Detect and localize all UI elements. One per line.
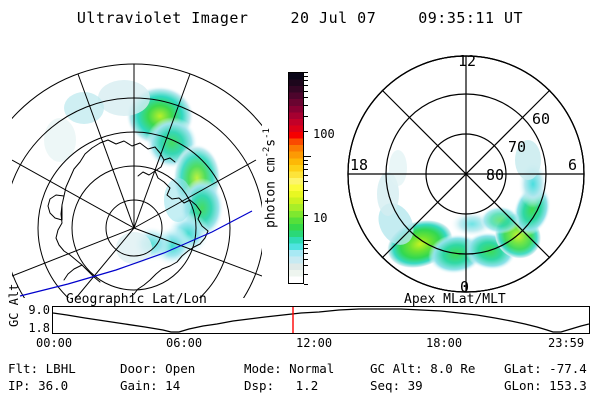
mlt-spokes bbox=[348, 56, 584, 292]
aurora-emission-apex bbox=[372, 140, 558, 278]
mlt-label-6: 6 bbox=[568, 156, 577, 174]
colorbar-title: photon cm-2s-1 bbox=[262, 72, 278, 284]
field-glat-key: GLat: bbox=[504, 361, 542, 376]
field-door-value: Open bbox=[165, 361, 195, 376]
orbit-y-axis-label: GC Alt bbox=[7, 293, 19, 327]
field-gain-key: Gain: bbox=[120, 378, 158, 393]
mlat-label-70: 70 bbox=[508, 138, 526, 156]
orbit-x-tick-4: 23:59 bbox=[548, 336, 584, 350]
field-ip-value: 36.0 bbox=[38, 378, 68, 393]
colorbar-tick-label: 100 bbox=[313, 129, 335, 139]
field-ip-key: IP: bbox=[8, 378, 31, 393]
colorbar-gradient bbox=[289, 73, 303, 283]
orbit-y-tick-low: 1.8 bbox=[28, 322, 50, 334]
geographic-plot-caption: Geographic Lat/Lon bbox=[66, 292, 207, 307]
telemetry-row-1: Flt: LBHL Door: Open Mode: Normal GC Alt… bbox=[8, 360, 598, 377]
orbit-x-tick-3: 18:00 bbox=[426, 336, 462, 350]
geographic-plot-svg bbox=[12, 48, 262, 298]
field-gcalt-key: GC Alt: bbox=[370, 361, 423, 376]
orbit-x-tick-0: 00:00 bbox=[36, 336, 72, 350]
field-glon-key: GLon: bbox=[504, 378, 542, 393]
field-glon-value: 153.3 bbox=[549, 378, 587, 393]
colorbar-scale bbox=[288, 72, 304, 284]
field-ip: IP: 36.0 bbox=[8, 378, 120, 393]
colorbar-title-main: photon cm bbox=[263, 158, 278, 228]
mlt-label-18: 18 bbox=[350, 156, 368, 174]
uvi-image-display: Ultraviolet Imager 20 Jul 07 09:35:11 UT bbox=[0, 0, 600, 400]
header-bar: Ultraviolet Imager 20 Jul 07 09:35:11 UT bbox=[0, 6, 600, 30]
orbit-altitude-plot bbox=[52, 306, 590, 334]
mlat-label-80: 80 bbox=[486, 166, 504, 184]
field-seq: Seq: 39 bbox=[370, 378, 504, 393]
orbit-altitude-svg bbox=[53, 307, 589, 333]
field-glon: GLon: 153.3 bbox=[504, 378, 587, 393]
mlat-label-60: 60 bbox=[532, 110, 550, 128]
colorbar-ticks bbox=[304, 72, 308, 284]
orbit-y-axis: GC Alt 9.0 1.8 bbox=[2, 300, 52, 338]
field-dsp-key: Dsp: bbox=[244, 378, 274, 393]
field-mode: Mode: Normal bbox=[244, 361, 370, 376]
colorbar-title-exp1: -2 bbox=[262, 147, 272, 158]
field-door: Door: Open bbox=[120, 361, 244, 376]
field-mode-value: Normal bbox=[289, 361, 334, 376]
field-dsp: Dsp: 1.2 bbox=[244, 378, 370, 393]
instrument-title: Ultraviolet Imager bbox=[77, 9, 249, 27]
colorbar-title-mid: s bbox=[263, 139, 278, 147]
orbit-y-tick-high: 9.0 bbox=[28, 304, 50, 316]
apex-mlat-mlt-plot: 12 18 6 0 60 70 80 bbox=[340, 48, 592, 300]
mlt-label-12: 12 bbox=[458, 52, 476, 70]
orbit-x-tick-2: 12:00 bbox=[296, 336, 332, 350]
field-dsp-value: 1.2 bbox=[296, 378, 319, 393]
field-seq-value: 39 bbox=[408, 378, 423, 393]
telemetry-footer: Flt: LBHL Door: Open Mode: Normal GC Alt… bbox=[8, 360, 598, 394]
orbit-x-tick-1: 06:00 bbox=[166, 336, 202, 350]
field-seq-key: Seq: bbox=[370, 378, 400, 393]
colorbar-title-exp2: -1 bbox=[262, 128, 272, 139]
field-flt-key: Flt: bbox=[8, 361, 38, 376]
field-glat: GLat: -77.4 bbox=[504, 361, 587, 376]
field-gcalt-value: 8.0 Re bbox=[430, 361, 475, 376]
field-gain-value: 14 bbox=[165, 378, 180, 393]
observation-date: 20 Jul 07 bbox=[290, 9, 376, 27]
apex-plot-svg: 12 18 6 0 60 70 80 bbox=[340, 48, 592, 300]
observation-time: 09:35:11 UT bbox=[418, 9, 523, 27]
orbit-altitude-curve bbox=[53, 309, 589, 332]
field-flt: Flt: LBHL bbox=[8, 361, 120, 376]
orbit-x-ticks: 00:00 06:00 12:00 18:00 23:59 bbox=[0, 336, 600, 352]
apex-plot-caption: Apex MLat/MLT bbox=[404, 292, 506, 307]
field-gcalt: GC Alt: 8.0 Re bbox=[370, 361, 504, 376]
field-mode-key: Mode: bbox=[244, 361, 282, 376]
telemetry-row-2: IP: 36.0 Gain: 14 Dsp: 1.2 Seq: 39 GLon:… bbox=[8, 377, 598, 394]
colorbar-tick-label: 10 bbox=[313, 213, 327, 223]
geographic-polar-plot bbox=[12, 48, 262, 298]
field-door-key: Door: bbox=[120, 361, 158, 376]
field-glat-value: -77.4 bbox=[549, 361, 587, 376]
field-gain: Gain: 14 bbox=[120, 378, 244, 393]
field-flt-value: LBHL bbox=[46, 361, 76, 376]
